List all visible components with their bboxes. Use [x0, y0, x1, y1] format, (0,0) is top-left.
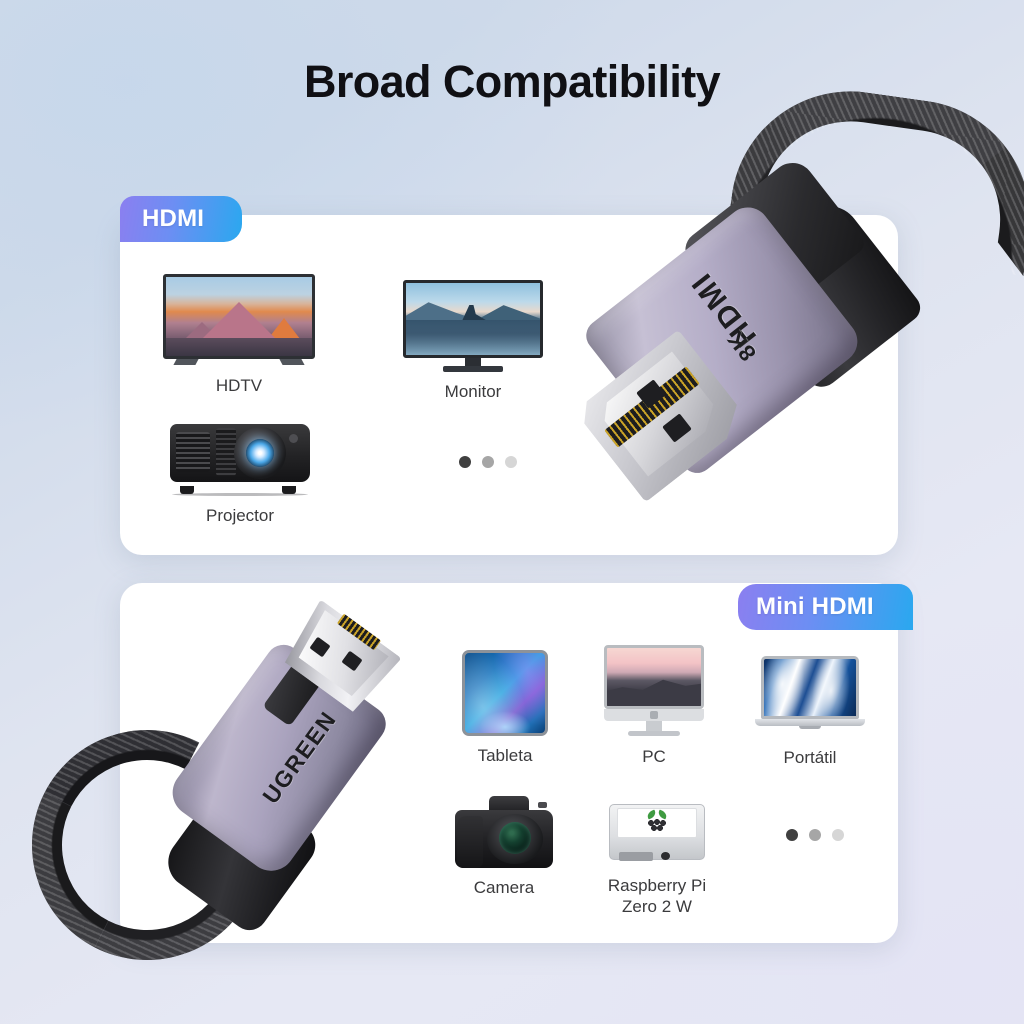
device-label-monitor: Monitor — [403, 381, 543, 402]
dot-2 — [482, 456, 494, 468]
dot-3 — [832, 829, 844, 841]
camera-icon — [455, 796, 553, 868]
hdmi-more-indicator[interactable] — [459, 456, 517, 468]
device-label-raspberry-pi: Raspberry Pi Zero 2 W — [605, 875, 709, 918]
monitor-icon — [403, 280, 543, 372]
dot-3 — [505, 456, 517, 468]
mini-hdmi-badge-label: Mini HDMI — [756, 593, 874, 621]
mini-hdmi-badge: Mini HDMI — [738, 584, 913, 630]
tv-icon — [163, 274, 315, 366]
dot-2 — [809, 829, 821, 841]
dot-1 — [786, 829, 798, 841]
dot-1 — [459, 456, 471, 468]
device-label-camera: Camera — [455, 877, 553, 898]
device-tile-pc[interactable]: PC — [604, 645, 704, 767]
device-tile-raspberry-pi[interactable]: Raspberry Pi Zero 2 W — [605, 802, 709, 918]
device-tile-hdtv[interactable]: HDTV — [163, 274, 315, 396]
device-tile-monitor[interactable]: Monitor — [403, 280, 543, 402]
device-label-hdtv: HDTV — [163, 375, 315, 396]
device-label-pc: PC — [604, 746, 704, 767]
projector-icon — [166, 418, 314, 496]
desktop-computer-icon — [604, 645, 704, 737]
mini-hdmi-more-indicator[interactable] — [786, 829, 844, 841]
device-tile-projector[interactable]: Projector — [166, 418, 314, 526]
raspberry-pi-icon — [605, 802, 709, 866]
device-label-tablet: Tableta — [462, 745, 548, 766]
hdmi-badge-label: HDMI — [142, 205, 204, 233]
device-tile-camera[interactable]: Camera — [455, 796, 553, 898]
device-label-laptop: Portátil — [755, 747, 865, 768]
tablet-icon — [462, 650, 548, 736]
device-tile-tablet[interactable]: Tableta — [462, 650, 548, 766]
hdmi-badge: HDMI — [120, 196, 242, 242]
device-tile-laptop[interactable]: Portátil — [755, 656, 865, 768]
device-label-projector: Projector — [166, 505, 314, 526]
laptop-icon — [755, 656, 865, 738]
page-title: Broad Compatibility — [0, 56, 1024, 108]
